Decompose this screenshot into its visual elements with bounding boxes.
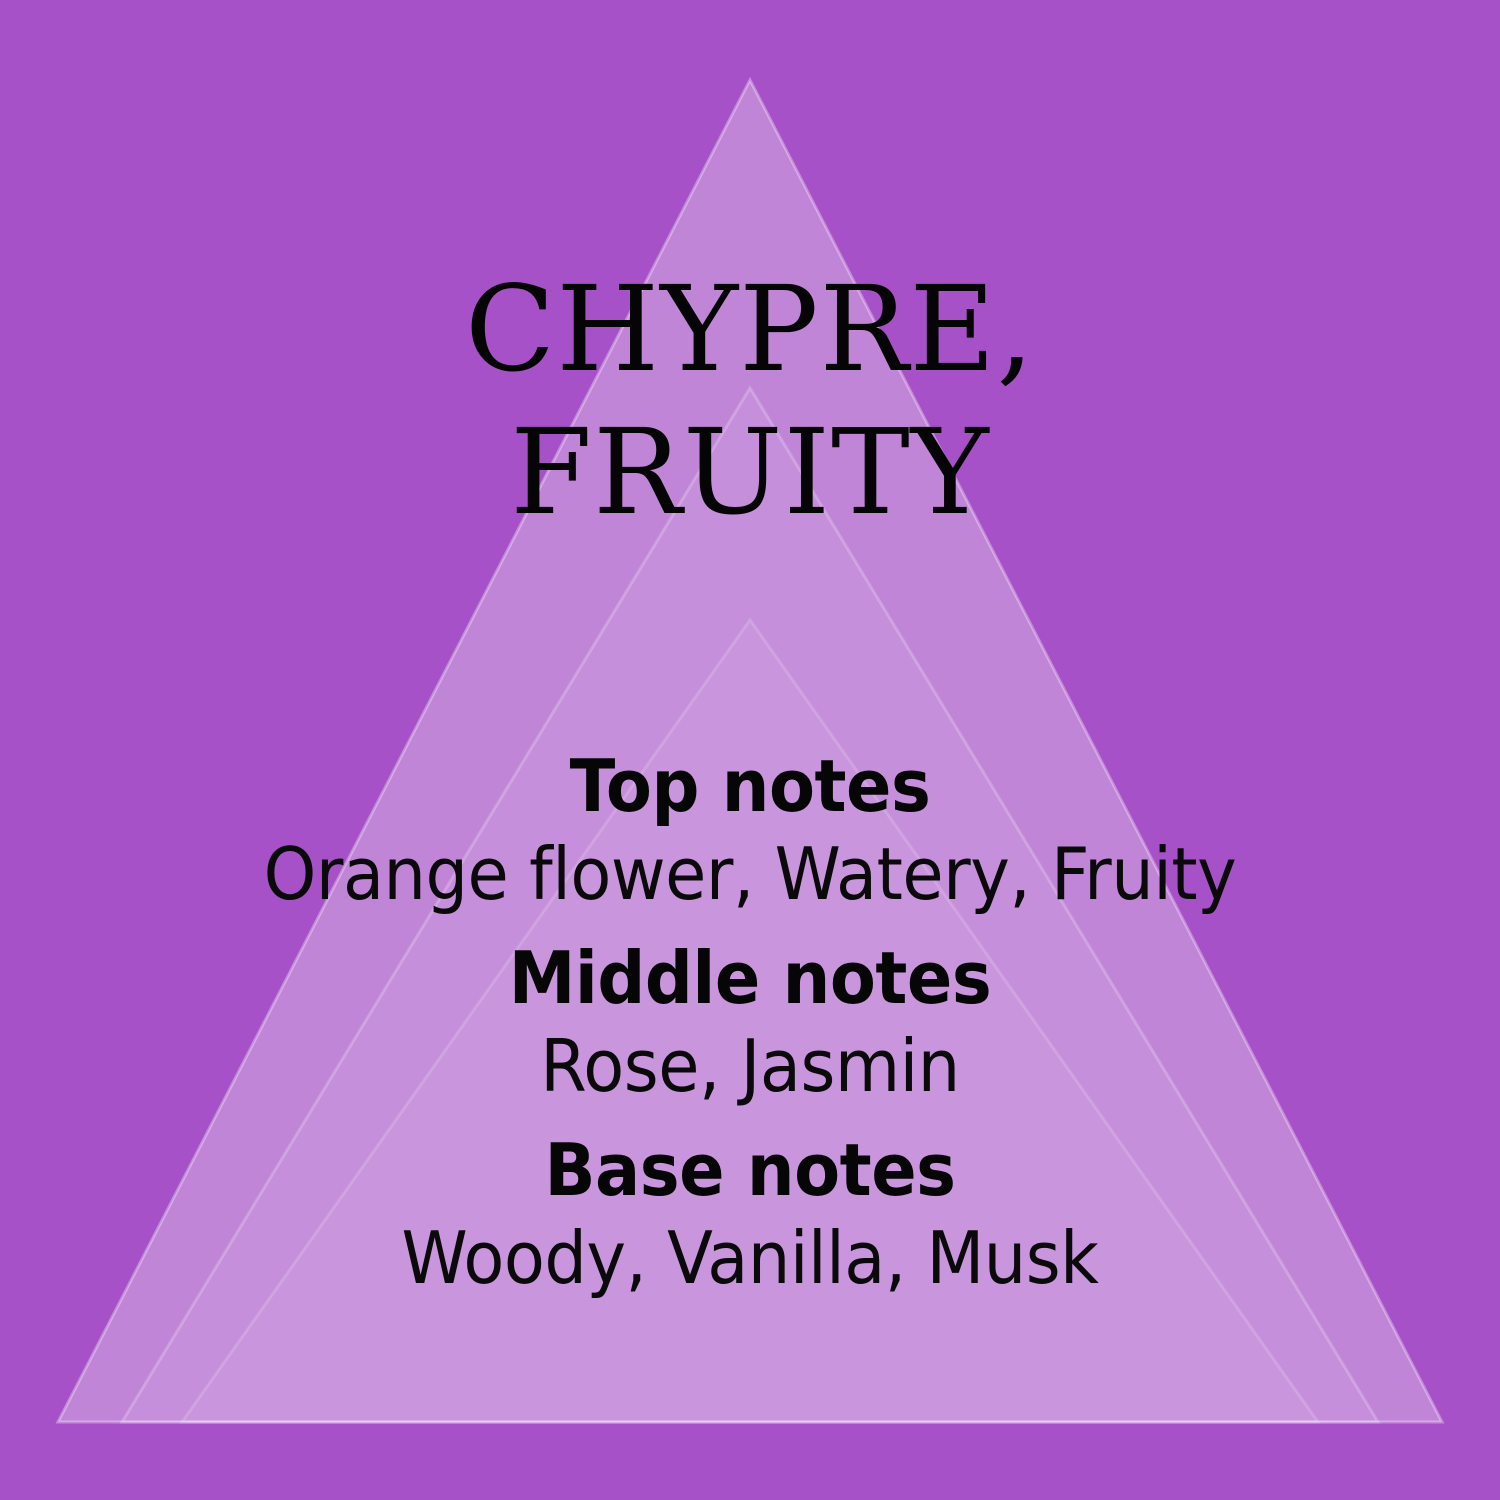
note-heading-top: Top notes [53,742,1448,830]
note-items-base: Woody, Vanilla, Musk [53,1214,1448,1302]
note-group-middle: Middle notes Rose, Jasmin [0,934,1500,1110]
note-items-middle: Rose, Jasmin [53,1022,1448,1110]
page-title: CHYPRE, FRUITY [0,258,1500,544]
note-group-top: Top notes Orange flower, Watery, Fruity [0,742,1500,918]
notes-list: Top notes Orange flower, Watery, Fruity … [0,742,1500,1302]
note-items-top: Orange flower, Watery, Fruity [53,830,1448,918]
page-title-line-1: CHYPRE, [0,258,1500,401]
page-title-line-2: FRUITY [0,401,1500,544]
note-heading-middle: Middle notes [53,934,1448,1022]
note-heading-base: Base notes [53,1126,1448,1214]
scent-pyramid-card: CHYPRE, FRUITY Top notes Orange flower, … [0,0,1500,1500]
note-group-base: Base notes Woody, Vanilla, Musk [0,1126,1500,1302]
